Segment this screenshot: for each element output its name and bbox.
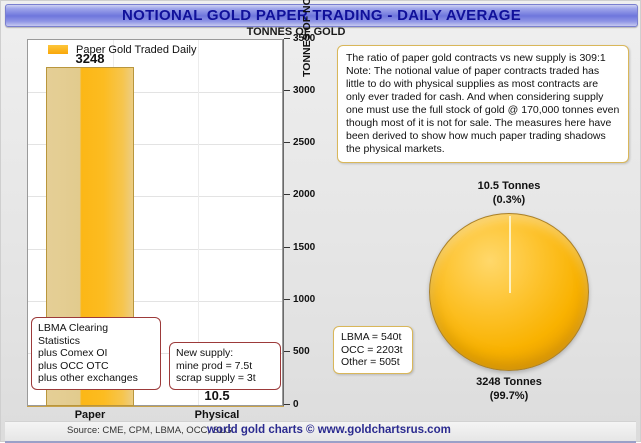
y-tick: 1000	[284, 294, 315, 305]
y-tick-label: 2500	[293, 137, 315, 148]
y-tick-label: 2000	[293, 189, 315, 200]
bar-value-label-physical: 10.5	[177, 388, 257, 403]
x-axis-line	[27, 406, 284, 407]
y-tick: 500	[284, 346, 310, 357]
x-category-paper: Paper	[46, 409, 134, 421]
pie-chart	[429, 213, 589, 371]
chart-canvas: NOTIONAL GOLD PAPER TRADING - DAILY AVER…	[0, 0, 641, 442]
callout-new-supply: New supply: mine prod = 7.5t scrap suppl…	[169, 342, 281, 390]
page-title: NOTIONAL GOLD PAPER TRADING - DAILY AVER…	[6, 5, 637, 26]
callout-ratio-note: The ratio of paper gold contracts vs new…	[337, 45, 629, 163]
brand-credit: world gold charts © www.goldchartsrus.co…	[207, 424, 451, 436]
callout-lbma-sources: LBMA Clearing Statistics plus Comex OI p…	[31, 317, 161, 390]
pie-label-paper: 3248 Tonnes (99.7%)	[433, 375, 585, 403]
pie-label-physical: 10.5 Tonnes (0.3%)	[433, 179, 585, 207]
y-tick-label: 1500	[293, 242, 315, 253]
pie-label-physical-value: 10.5 Tonnes	[433, 179, 585, 193]
y-tick: 2000	[284, 189, 315, 200]
chart-title-bar: NOTIONAL GOLD PAPER TRADING - DAILY AVER…	[5, 4, 638, 27]
callout-pie-breakdown: LBMA = 540t OCC = 2203t Other = 505t	[333, 326, 413, 374]
y-tick-label: 500	[293, 346, 310, 357]
y-tick-label: 0	[293, 399, 299, 410]
x-category-physical: Physical	[177, 409, 257, 421]
y-axis-title: TONNES OF NOTIONAL GOLD	[301, 0, 319, 111]
chart-footer: Source: CME, CPM, LBMA, OCC, SLG world g…	[5, 421, 636, 443]
y-tick: 0	[284, 399, 299, 410]
pie-label-paper-value: 3248 Tonnes	[433, 375, 585, 389]
bar-value-label-paper: 3248	[46, 51, 134, 66]
y-tick: 1500	[284, 242, 315, 253]
y-tick-label: 1000	[293, 294, 315, 305]
pie-label-paper-percent: (99.7%)	[433, 389, 585, 403]
y-tick: 2500	[284, 137, 315, 148]
pie-slice-divider	[509, 216, 511, 293]
pie-label-physical-percent: (0.3%)	[433, 193, 585, 207]
